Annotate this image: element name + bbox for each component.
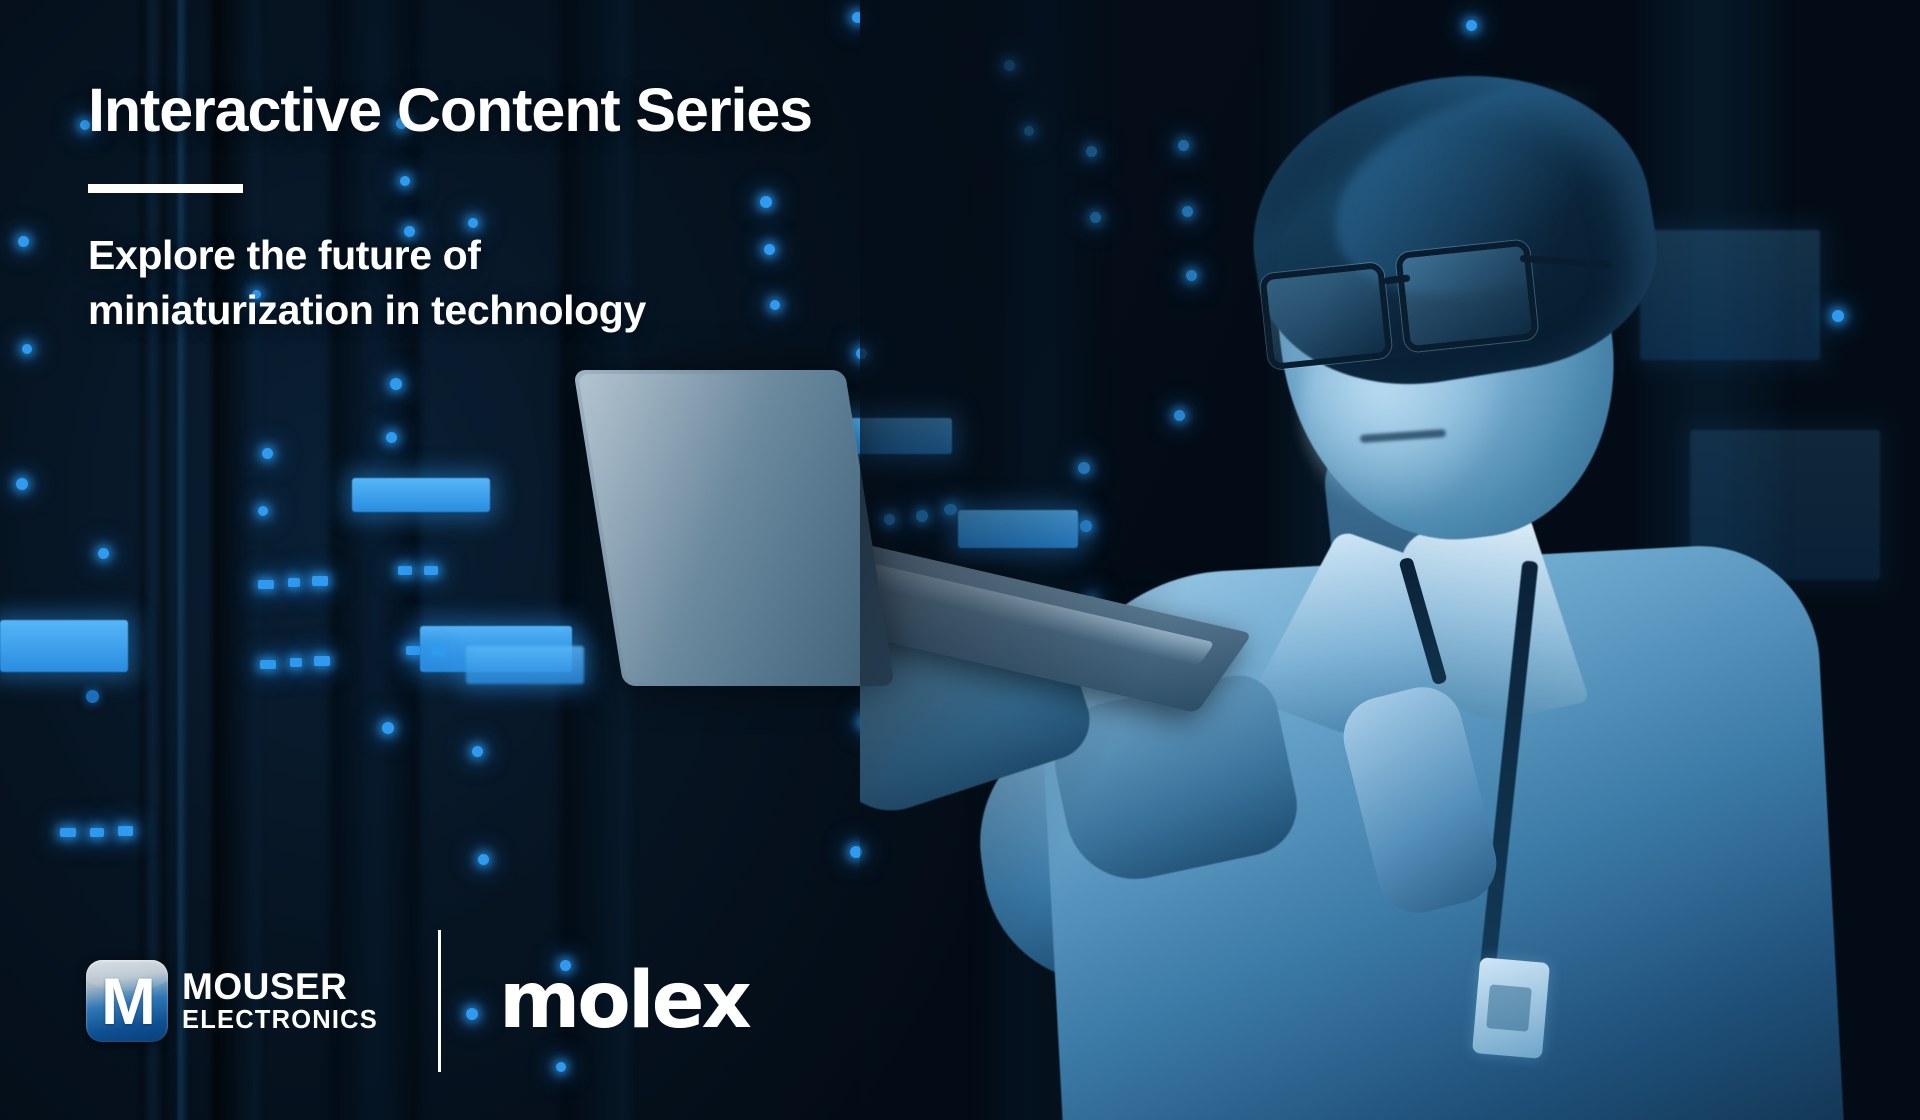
mouser-m-badge-icon: M xyxy=(86,960,168,1042)
title-underline-rule xyxy=(88,184,243,193)
page-title: Interactive Content Series xyxy=(88,78,812,143)
subtitle-line-1: Explore the future of xyxy=(88,228,646,283)
mouser-logo[interactable]: M MOUSER ELECTRONICS xyxy=(86,960,378,1042)
mouser-mark-letter: M xyxy=(101,968,153,1034)
logo-lockup: M MOUSER ELECTRONICS molex xyxy=(86,930,749,1072)
banner-content: Interactive Content Series Explore the f… xyxy=(0,0,1920,1120)
subtitle: Explore the future of miniaturization in… xyxy=(88,228,646,339)
mouser-name-line-1: MOUSER xyxy=(182,968,378,1005)
mouser-name-line-2: ELECTRONICS xyxy=(182,1008,378,1034)
mouser-wordmark: MOUSER ELECTRONICS xyxy=(182,968,378,1034)
molex-logo[interactable]: molex xyxy=(499,962,749,1040)
promo-banner: Interactive Content Series Explore the f… xyxy=(0,0,1920,1120)
logo-divider xyxy=(438,930,441,1072)
subtitle-line-2: miniaturization in technology xyxy=(88,283,646,338)
